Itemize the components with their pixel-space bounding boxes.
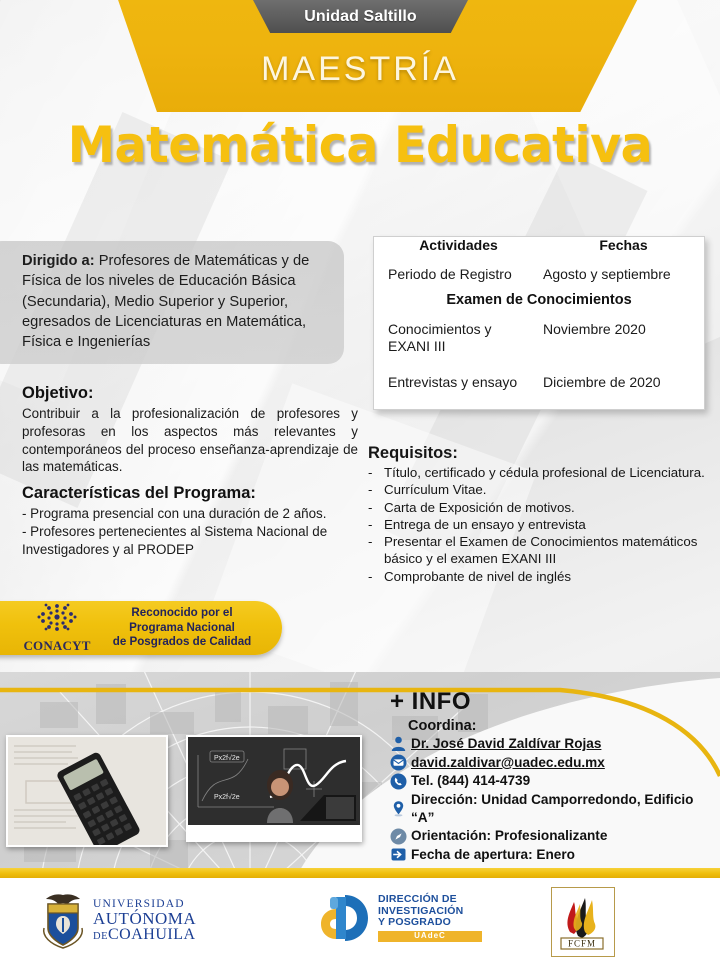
degree-label: MAESTRÍA [0,50,720,89]
caracteristicas-section: Características del Programa: - Programa… [22,484,358,558]
phone-number[interactable]: Tel. (844) 414-4739 [411,772,530,790]
info-section: + INFO Coordina: Dr. José David Zaldívar… [390,688,710,865]
info-row-coordinator: Dr. José David Zaldívar Rojas [390,735,710,753]
dirigido-a-label: Dirigido a: [22,253,95,269]
bullet-dash: - [368,568,384,585]
footer-gold-bar [0,868,720,878]
fcfm-flame-icon: FCFM [552,888,612,954]
conacyt-recognition-text: Reconocido por el Programa Nacional de P… [96,606,282,649]
objetivo-section: Objetivo: Contribuir a la profesionaliza… [22,384,358,476]
list-item: -Comprobante de nivel de inglés [368,568,716,585]
conacyt-line-2: Programa Nacional [96,621,268,635]
table-header-fechas: Fechas [543,237,704,253]
list-item-text: Carta de Exposición de motivos. [384,499,716,516]
poster-canvas: Unidad Saltillo MAESTRÍA Matemática Educ… [0,0,720,960]
compass-icon [390,828,408,845]
person-icon [390,735,408,752]
dirigido-a-box: Dirigido a: Profesores de Matemáticas y … [0,241,344,364]
table-row: Periodo de Registro Agosto y septiembre [374,261,704,288]
list-item-text: Entrega de un ensayo y entrevista [384,516,716,533]
conacyt-line-1: Reconocido por el [96,606,268,620]
table-cell-date: Noviembre 2020 [543,316,704,360]
fcfm-logo: FCFM [551,887,615,957]
uadec-crest-icon [40,892,86,950]
conacyt-logo: CONACYT [18,602,96,654]
pin-icon [390,800,408,817]
table-cell-activity: Conocimientos yEXANI III [374,316,543,360]
svg-text:FCFM: FCFM [568,939,596,949]
uadec-line-3-prefix: DE [93,931,108,942]
phone-icon [390,773,408,790]
list-item: -Entrega de un ensayo y entrevista [368,516,716,533]
svg-text:Px2f√2e: Px2f√2e [214,793,240,801]
list-item: -Título, certificado y cédula profesiona… [368,464,716,481]
dip-logo: DIRECCIÓN DE INVESTIGACIÓN Y POSGRADO UA… [318,893,482,943]
caracteristicas-item: - Programa presencial con una duración d… [22,505,358,523]
unit-tab-label: Unidad Saltillo [304,8,417,26]
info-row-email: david.zaldivar@uadec.edu.mx [390,754,710,772]
uadec-line-3-main: COAHUILA [108,926,196,943]
unit-tab: Unidad Saltillo [253,0,468,33]
coordina-label: Coordina: [408,718,710,734]
calculator-photo-graphic [8,737,166,845]
list-item-text: Comprobante de nivel de inglés [384,568,716,585]
table-span-label: Examen de Conocimientos [374,288,704,312]
uadec-wordmark: UNIVERSIDAD AUTÓNOMA DECOAHUILA [93,899,196,944]
table-header-actividades: Actividades [374,237,543,253]
conacyt-dots-icon [36,602,78,634]
svg-text:Px2f√2e: Px2f√2e [214,754,240,762]
requisitos-section: Requisitos: -Título, certificado y cédul… [368,444,716,585]
student-laptop-photo: Px2f√2e Px2f√2e [186,735,362,842]
info-row-opening-date: Fecha de apertura: Enero [390,846,710,864]
conacyt-badge: CONACYT Reconocido por el Programa Nacio… [0,601,282,655]
table-row: Conocimientos yEXANI III Noviembre 2020 [374,316,704,360]
dip-line-1: DIRECCIÓN DE [378,894,482,906]
bullet-dash: - [368,464,384,481]
table-row: Entrevistas y ensayo Diciembre de 2020 [374,369,704,396]
info-row-address: Dirección: Unidad Camporredondo, Edifici… [390,791,710,826]
info-row-phone: Tel. (844) 414-4739 [390,772,710,790]
page-title: Matemática Educativa [18,116,702,174]
envelope-icon [390,754,408,771]
uadec-line-2: AUTÓNOMA [93,910,196,927]
table-span-row: Examen de Conocimientos [374,288,704,312]
coordinator-name[interactable]: Dr. José David Zaldívar Rojas [411,735,601,753]
bullet-dash: - [368,481,384,498]
email-link[interactable]: david.zaldivar@uadec.edu.mx [411,754,605,772]
list-item: -Currículum Vitae. [368,481,716,498]
requisitos-list: -Título, certificado y cédula profesiona… [368,464,716,585]
student-laptop-photo-graphic: Px2f√2e Px2f√2e [188,737,360,840]
info-row-orientation: Orientación: Profesionalizante [390,827,710,845]
list-item: -Presentar el Examen de Conocimientos ma… [368,533,716,568]
conacyt-wordmark: CONACYT [18,638,96,654]
caracteristicas-item: - Profesores pertenecientes al Sistema N… [22,523,358,559]
bullet-dash: - [368,516,384,533]
list-item: -Carta de Exposición de motivos. [368,499,716,516]
schedule-table: Actividades Fechas Periodo de Registro A… [373,236,705,410]
conacyt-line-3: de Posgrados de Calidad [96,635,268,649]
dip-mark-icon [318,893,372,943]
list-item-text: Presentar el Examen de Conocimientos mat… [384,533,716,568]
objetivo-heading: Objetivo: [22,384,358,403]
table-cell-activity: Periodo de Registro [374,261,543,288]
objetivo-text: Contribuir a la profesionalización de pr… [22,405,358,476]
list-item-text: Currículum Vitae. [384,481,716,498]
caracteristicas-heading: Características del Programa: [22,484,358,503]
table-cell-date: Agosto y septiembre [543,261,704,288]
uadec-logo: UNIVERSIDAD AUTÓNOMA DECOAHUILA [40,892,196,950]
uadec-line-3: DECOAHUILA [93,927,196,943]
bullet-dash: - [368,533,384,568]
dip-line-3: Y POSGRADO [378,917,482,929]
table-cell-date: Diciembre de 2020 [543,369,704,396]
opening-date-text: Fecha de apertura: Enero [411,846,575,864]
dip-wordmark: DIRECCIÓN DE INVESTIGACIÓN Y POSGRADO UA… [378,894,482,942]
dirigido-a-paragraph: Dirigido a: Profesores de Matemáticas y … [22,251,330,352]
table-header-row: Actividades Fechas [374,237,704,253]
orientation-text: Orientación: Profesionalizante [411,827,607,845]
bullet-dash: - [368,499,384,516]
calculator-photo [6,735,168,847]
requisitos-heading: Requisitos: [368,444,716,463]
address-text: Dirección: Unidad Camporredondo, Edifici… [411,791,710,826]
table-cell-activity: Entrevistas y ensayo [374,369,543,396]
dip-uadec-tag: UAdeC [378,931,482,942]
info-title: + INFO [390,688,710,716]
list-item-text: Título, certificado y cédula profesional… [384,464,716,481]
enter-icon [390,846,408,863]
